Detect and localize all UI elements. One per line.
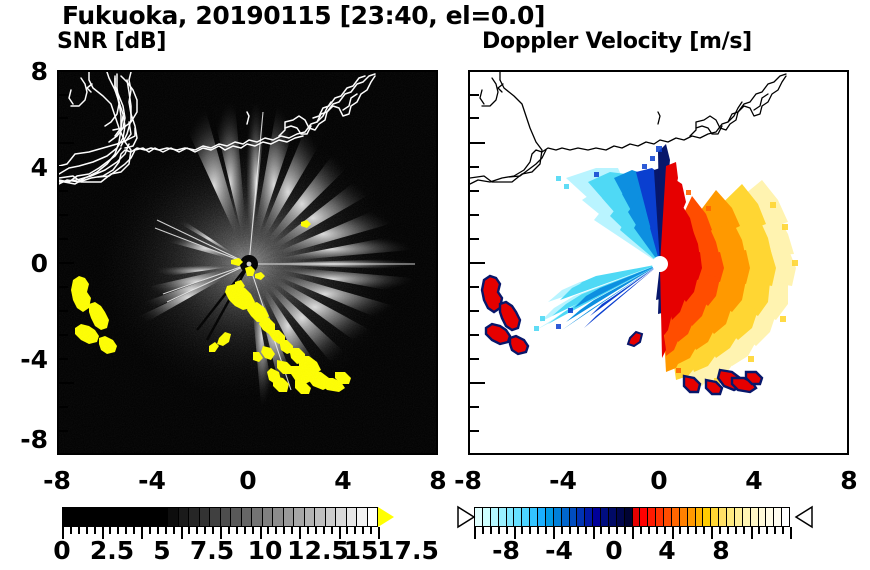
- doppler-plot-svg: [470, 72, 847, 453]
- colorbar-segment: [147, 508, 158, 526]
- colorbar-tick: [774, 527, 776, 534]
- colorbar-tick: [616, 527, 618, 534]
- tick: [59, 286, 68, 288]
- colorbar-segment: [347, 508, 358, 526]
- colorbar-tick: [490, 527, 492, 534]
- panel-doppler-canvas: [470, 72, 847, 453]
- tick: [59, 262, 74, 264]
- colorbar-tick: [362, 527, 364, 534]
- colorbar-tick: [196, 527, 198, 534]
- tick: [59, 166, 68, 168]
- colorbar-segment: [357, 508, 368, 526]
- colorbar-segment: [84, 508, 95, 526]
- tick: [59, 406, 68, 408]
- colorbar-segment: [210, 508, 221, 526]
- colorbar-segment: [137, 508, 148, 526]
- colorbar-tick: [521, 527, 523, 534]
- colorbar-tick: [758, 527, 760, 534]
- tick: [59, 117, 68, 119]
- ytick-label: -8: [0, 425, 48, 454]
- colorbar-segment: [200, 508, 211, 526]
- colorbar-segment: [294, 508, 305, 526]
- colorbar-segment: [368, 508, 378, 526]
- tick: [470, 310, 479, 312]
- colorbar-tick: [727, 527, 729, 534]
- colorbar-segment: [284, 508, 295, 526]
- xtick-label: 0: [223, 466, 273, 495]
- colorbar-snr-over-arrow-outline: [378, 507, 394, 527]
- colorbar-tick: [173, 527, 175, 534]
- panel-snr[interactable]: [57, 70, 438, 455]
- tick: [470, 214, 479, 216]
- colorbar-tick: [315, 527, 317, 534]
- colorbar-snr-tick-label: 0: [40, 536, 84, 565]
- panel-snr-canvas: [59, 72, 436, 453]
- colorbar-snr-tick-label: 7.5: [179, 536, 245, 565]
- colorbar-tick: [252, 527, 254, 534]
- colorbar-tick: [743, 527, 745, 534]
- ytick-label: 8: [4, 57, 48, 86]
- xtick-label: -4: [127, 466, 177, 495]
- page-title: Fukuoka, 20190115 [23:40, el=0.0]: [62, 1, 545, 30]
- colorbar-tick: [70, 527, 72, 534]
- colorbar-tick: [608, 527, 610, 534]
- colorbar-tick: [86, 527, 88, 534]
- colorbar-tick: [577, 527, 579, 534]
- colorbar-tick: [78, 527, 80, 534]
- ytick-label: -4: [0, 345, 48, 374]
- colorbar-tick: [283, 527, 285, 534]
- colorbar-doppler-arrow-outlines: [452, 505, 824, 529]
- tick: [59, 214, 68, 216]
- colorbar-tick: [624, 527, 626, 534]
- tick: [59, 382, 74, 384]
- colorbar-segment: [168, 508, 179, 526]
- colorbar-tick: [323, 527, 325, 534]
- colorbar-doppler-tick-label: 8: [696, 536, 746, 565]
- xtick-label: 4: [318, 466, 368, 495]
- tick: [470, 94, 479, 96]
- tick: [470, 382, 485, 384]
- ytick-label: 0: [4, 249, 48, 278]
- colorbar-snr-tick-label: 2.5: [79, 536, 145, 565]
- colorbar-doppler-tick-label: 4: [642, 536, 692, 565]
- colorbar-tick: [735, 527, 737, 534]
- tick: [59, 190, 68, 192]
- colorbar-tick: [267, 527, 269, 534]
- panel-title-snr: SNR [dB]: [57, 29, 166, 54]
- colorbar-tick: [331, 527, 333, 534]
- colorbar-tick: [648, 527, 650, 534]
- colorbar-segment: [74, 508, 85, 526]
- tick: [470, 262, 485, 264]
- colorbar-segment: [105, 508, 116, 526]
- colorbar-tick: [370, 527, 372, 534]
- colorbar-tick: [165, 527, 167, 534]
- colorbar-tick: [703, 527, 705, 534]
- tick: [470, 117, 479, 119]
- colorbar-tick: [506, 527, 508, 534]
- tick: [470, 190, 479, 192]
- colorbar-segment: [179, 508, 190, 526]
- tick: [59, 94, 68, 96]
- colorbar-tick: [109, 527, 111, 534]
- colorbar-snr-tick-label: 5: [140, 536, 184, 565]
- colorbar-tick: [664, 527, 666, 534]
- colorbar-segment: [95, 508, 106, 526]
- colorbar-tick: [236, 527, 238, 534]
- xtick-label: 4: [729, 466, 779, 495]
- tick: [59, 334, 68, 336]
- colorbar-tick: [782, 527, 784, 534]
- colorbar-tick: [133, 527, 135, 534]
- radar-figure: Fukuoka, 20190115 [23:40, el=0.0] SNR [d…: [0, 0, 870, 570]
- colorbar-segment: [158, 508, 169, 526]
- colorbar-tick: [719, 527, 721, 534]
- xtick-label: -8: [32, 466, 82, 495]
- colorbar-tick: [212, 527, 214, 534]
- ytick-label: 4: [4, 153, 48, 182]
- tick: [59, 310, 68, 312]
- colorbar-tick: [766, 527, 768, 534]
- colorbar-tick: [149, 527, 151, 534]
- colorbar-tick: [307, 527, 309, 534]
- tick: [470, 238, 479, 240]
- colorbar-tick: [125, 527, 127, 534]
- colorbar-tick: [157, 527, 159, 534]
- colorbar-segment: [63, 508, 74, 526]
- colorbar-tick: [498, 527, 500, 534]
- colorbar-tick: [537, 527, 539, 534]
- colorbar-segment: [305, 508, 316, 526]
- panel-title-doppler: Doppler Velocity [m/s]: [482, 29, 752, 54]
- tick: [470, 358, 479, 360]
- colorbar-segment: [116, 508, 127, 526]
- colorbar-segment: [242, 508, 253, 526]
- colorbar-tick: [529, 527, 531, 534]
- colorbar-tick: [482, 527, 484, 534]
- colorbar-segment: [273, 508, 284, 526]
- colorbar-snr-tick-label: 17.5: [370, 536, 446, 565]
- tick: [470, 286, 479, 288]
- colorbar-doppler-tick-label: 0: [589, 536, 639, 565]
- tick: [470, 406, 479, 408]
- tick: [59, 142, 74, 144]
- colorbar-tick: [640, 527, 642, 534]
- colorbar-tick: [585, 527, 587, 534]
- colorbar-tick: [751, 527, 753, 539]
- colorbar-tick: [188, 527, 190, 534]
- tick: [470, 334, 479, 336]
- xtick-label: 0: [634, 466, 684, 495]
- panel-doppler[interactable]: [468, 70, 849, 455]
- xtick-label: -4: [538, 466, 588, 495]
- colorbar-tick: [354, 527, 356, 534]
- tick: [470, 430, 479, 432]
- colorbar-tick: [346, 527, 348, 534]
- colorbar-tick: [656, 527, 658, 534]
- colorbar-segment: [221, 508, 232, 526]
- tick: [59, 238, 68, 240]
- colorbar-doppler-tick-label: -8: [481, 536, 531, 565]
- colorbar-segment: [189, 508, 200, 526]
- colorbar-segment: [326, 508, 337, 526]
- colorbar-tick: [117, 527, 119, 534]
- colorbar-tick: [244, 527, 246, 534]
- colorbar-tick: [545, 527, 547, 534]
- tick: [59, 430, 68, 432]
- colorbar-tick: [600, 527, 602, 534]
- colorbar-tick: [474, 527, 476, 539]
- tick: [59, 358, 68, 360]
- colorbar-doppler-tick-label: -4: [534, 536, 584, 565]
- colorbar-snr-body: [62, 507, 378, 527]
- colorbar-segment: [252, 508, 263, 526]
- colorbar-tick: [204, 527, 206, 534]
- colorbar-tick: [275, 527, 277, 534]
- tick: [470, 142, 485, 144]
- colorbar-tick: [790, 527, 792, 539]
- colorbar-tick: [561, 527, 563, 534]
- colorbar-segment: [315, 508, 326, 526]
- colorbar-snr[interactable]: [62, 507, 392, 527]
- colorbar-segment: [263, 508, 274, 526]
- colorbar-segment: [336, 508, 347, 526]
- colorbar-tick: [569, 527, 571, 534]
- colorbar-tick: [695, 527, 697, 534]
- xtick-label: -8: [443, 466, 493, 495]
- xtick-label: 8: [824, 466, 870, 495]
- colorbar-segment: [126, 508, 137, 526]
- snr-plot-svg: [59, 72, 436, 453]
- colorbar-tick: [687, 527, 689, 534]
- colorbar-tick: [679, 527, 681, 534]
- tick: [470, 166, 479, 168]
- colorbar-tick: [291, 527, 293, 534]
- colorbar-tick: [94, 527, 96, 534]
- colorbar-segment: [231, 508, 242, 526]
- colorbar-tick: [228, 527, 230, 534]
